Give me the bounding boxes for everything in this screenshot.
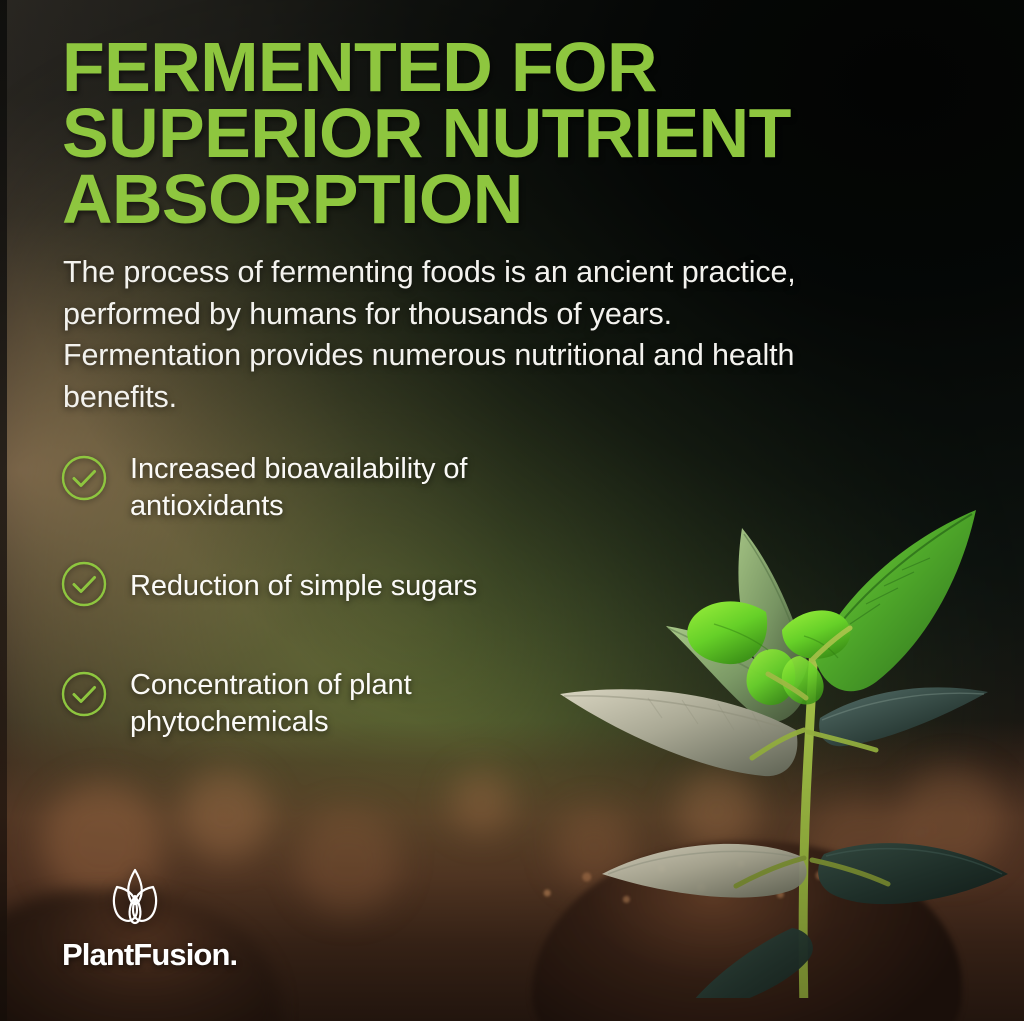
brand-lockup: PlantFusion.: [62, 866, 237, 973]
brand-wordmark: PlantFusion.: [62, 937, 237, 973]
left-edge-shadow: [0, 0, 7, 1021]
lotus-petals-icon: [106, 866, 164, 928]
page-title: FERMENTED FOR SUPERIOR NUTRIENT ABSORPTI…: [62, 34, 852, 232]
benefit-label: Reduction of simple sugars: [130, 560, 477, 605]
check-circle-icon: [60, 670, 108, 718]
intro-paragraph: The process of fermenting foods is an an…: [63, 252, 803, 419]
benefit-label: Concentration of plant phytochemicals: [130, 666, 600, 742]
list-item: Reduction of simple sugars: [60, 560, 600, 632]
benefits-list: Increased bioavailability of antioxidant…: [60, 450, 600, 741]
check-circle-icon: [60, 560, 108, 608]
check-circle-icon: [60, 454, 108, 502]
benefit-label: Increased bioavailability of antioxidant…: [130, 450, 600, 526]
list-item: Increased bioavailability of antioxidant…: [60, 450, 600, 526]
list-item: Concentration of plant phytochemicals: [60, 666, 600, 742]
infographic-canvas: FERMENTED FOR SUPERIOR NUTRIENT ABSORPTI…: [0, 0, 1024, 1021]
content-overlay: FERMENTED FOR SUPERIOR NUTRIENT ABSORPTI…: [0, 0, 1024, 1021]
